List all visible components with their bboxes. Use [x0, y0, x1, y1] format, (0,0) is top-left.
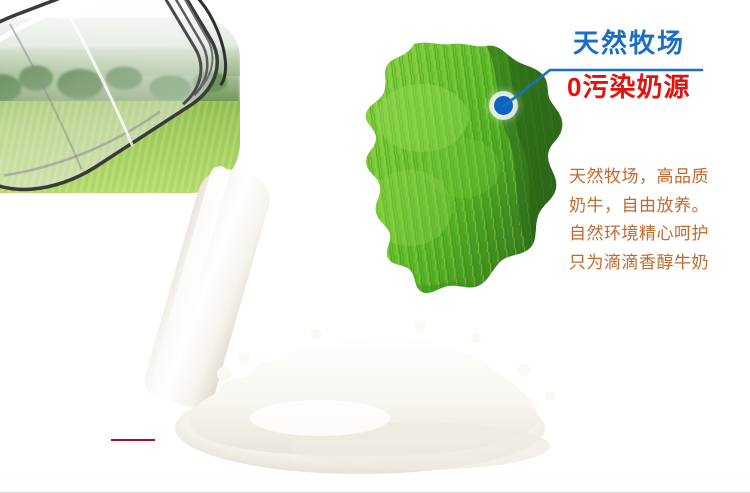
- page-subtitle: 0污染奶源: [567, 72, 690, 102]
- body-copy: 天然牧场，高品质 奶牛，自由放养。 自然环境精心呵护 只为滴滴香醇牛奶: [569, 163, 709, 277]
- page-title: 天然牧场: [573, 28, 685, 58]
- red-accent-rule: [111, 439, 155, 441]
- body-line: 天然牧场，高品质: [569, 163, 709, 192]
- body-line: 奶牛，自由放养。: [569, 192, 709, 221]
- milk-splash-crown: [120, 300, 640, 480]
- body-line: 只为滴滴香醇牛奶: [569, 249, 709, 278]
- location-dot[interactable]: [494, 96, 513, 115]
- body-line: 自然环境精心呵护: [569, 220, 709, 249]
- promo-banner: 天然牧场 0污染奶源 天然牧场，高品质 奶牛，自由放养。 自然环境精心呵护 只为…: [0, 0, 750, 493]
- ireland-grass-map: [352, 38, 580, 300]
- pasture-with-cows-photo: [0, 18, 240, 193]
